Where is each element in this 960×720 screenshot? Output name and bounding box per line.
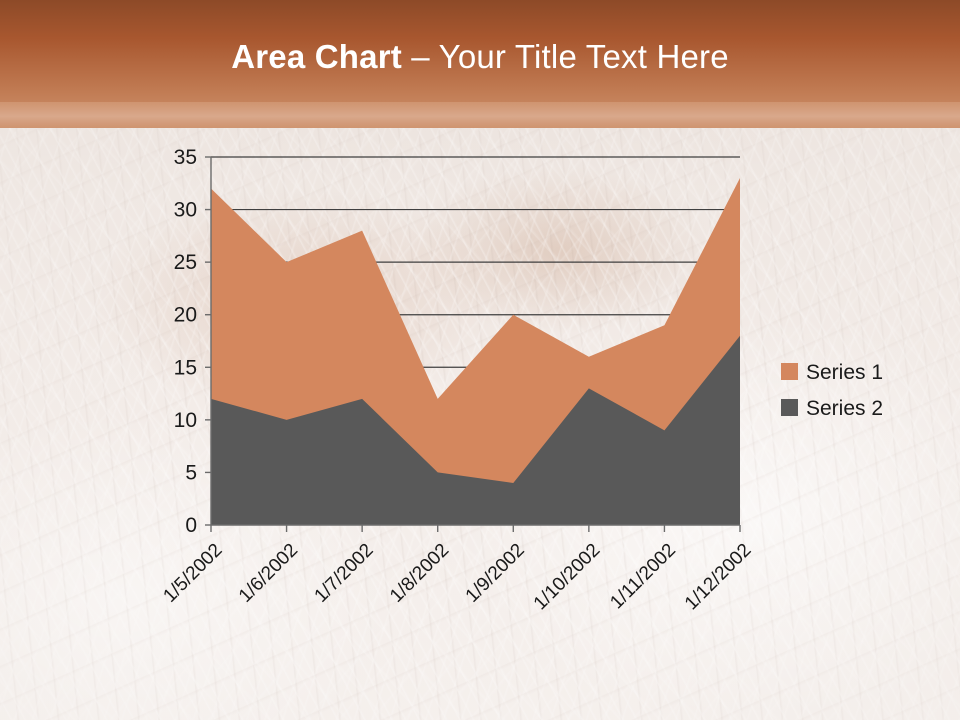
x-axis-label: 1/11/2002 [606, 540, 680, 614]
y-axis-label: 10 [174, 409, 197, 432]
legend-swatch [781, 399, 798, 416]
y-axis-tick-labels: 05101520253035 [174, 146, 197, 537]
chart-svg: 05101520253035 1/5/20021/6/20021/7/20021… [0, 0, 960, 720]
y-axis-label: 20 [174, 304, 197, 327]
legend-item-label: Series 2 [806, 397, 883, 420]
x-axis-label: 1/12/2002 [681, 540, 756, 615]
legend-swatch [781, 363, 798, 380]
x-axis-label: 1/6/2002 [235, 540, 302, 607]
chart-series-areas [211, 178, 740, 525]
y-axis-label: 15 [174, 356, 197, 379]
y-axis-label: 30 [174, 199, 197, 222]
legend-item-label: Series 1 [806, 361, 883, 384]
x-axis-label: 1/9/2002 [462, 540, 529, 607]
x-axis-label: 1/10/2002 [530, 540, 605, 615]
y-axis-label: 5 [185, 461, 197, 484]
y-axis-label: 25 [174, 251, 197, 274]
y-axis-label: 35 [174, 146, 197, 169]
x-axis-label: 1/5/2002 [159, 540, 226, 607]
slide-canvas: Area Chart – Your Title Text Here 051015… [0, 0, 960, 720]
area-chart: 05101520253035 1/5/20021/6/20021/7/20021… [0, 0, 960, 720]
x-axis-tick-labels: 1/5/20021/6/20021/7/20021/8/20021/9/2002… [159, 540, 755, 615]
x-axis-label: 1/8/2002 [386, 540, 453, 607]
x-axis-label: 1/7/2002 [311, 540, 378, 607]
y-axis-label: 0 [185, 514, 197, 537]
chart-legend: Series 1Series 2 [781, 361, 883, 420]
